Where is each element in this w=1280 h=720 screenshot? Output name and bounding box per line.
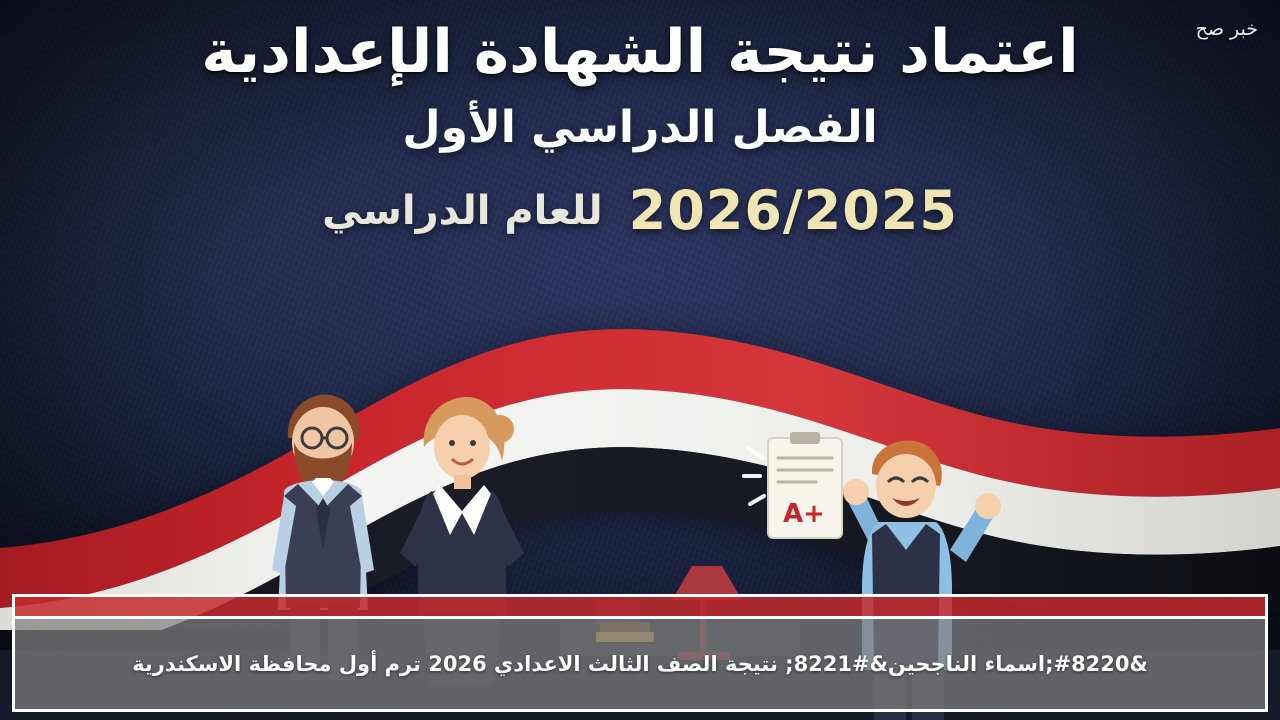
headline-block: اعتماد نتيجة الشهادة الإعدادية الفصل الد…: [0, 18, 1280, 242]
academic-year-row: للعام الدراسي 2026/2025: [0, 179, 1280, 242]
caption-text: &#8220;اسماء الناجحين&#8221; نتيجة الصف …: [114, 652, 1166, 676]
academic-year-value: 2026/2025: [629, 179, 958, 242]
caption-top-stripe: [12, 594, 1268, 616]
page-title: اعتماد نتيجة الشهادة الإعدادية: [0, 18, 1280, 86]
page-subtitle: الفصل الدراسي الأول: [0, 102, 1280, 153]
academic-year-label: للعام الدراسي: [322, 188, 603, 234]
caption-bar: &#8220;اسماء الناجحين&#8221; نتيجة الصف …: [12, 616, 1268, 712]
poster-image: خبر صح اعتماد نتيجة الشهادة الإعدادية ال…: [0, 0, 1280, 720]
result-clipboard: A+: [740, 430, 860, 560]
grade-label: A+: [783, 499, 825, 529]
